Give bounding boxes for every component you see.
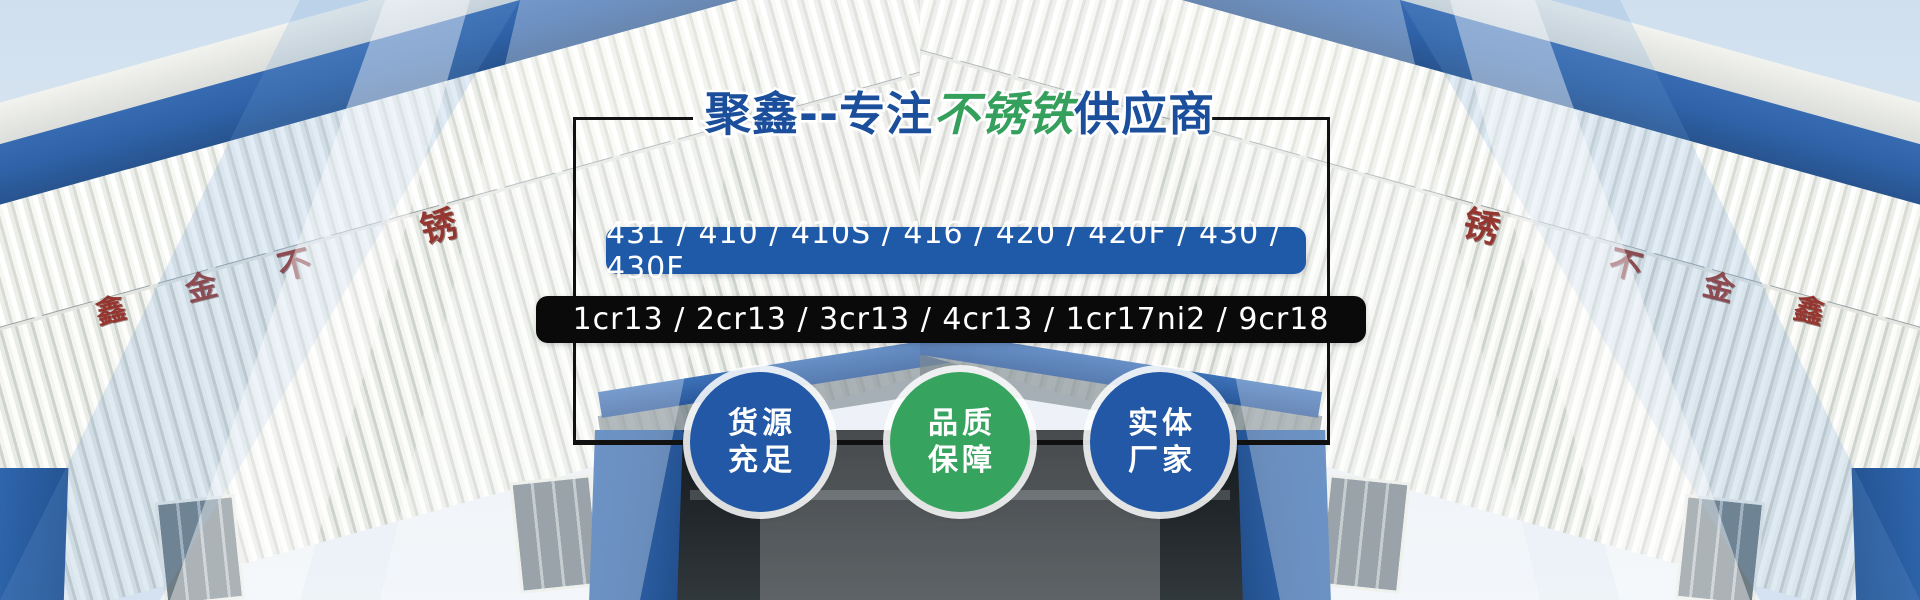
badge-quality-line2: 保障 [924, 442, 996, 480]
badge-quality: 品质 保障 [890, 372, 1030, 512]
headline-brand: 聚鑫 [705, 87, 799, 141]
feature-badges: 货源 充足 品质 保障 实体 厂家 [0, 372, 1920, 512]
badge-supply-line2: 充足 [724, 442, 796, 480]
promo-banner: 鑫 金 不 锈 鑫 金 不 锈 [0, 0, 1920, 600]
badge-quality-line1: 品质 [924, 405, 996, 443]
badge-supply-line1: 货源 [724, 405, 796, 443]
badge-factory: 实体 厂家 [1090, 372, 1230, 512]
grade-bar-primary: 431 / 410 / 410S / 416 / 420 / 420F / 43… [606, 227, 1306, 274]
badge-factory-line1: 实体 [1124, 405, 1196, 443]
headline-highlight: 不锈铁 [933, 87, 1074, 141]
grade-bar-secondary: 1cr13 / 2cr13 / 3cr13 / 4cr13 / 1cr17ni2… [536, 296, 1366, 343]
headline-focus: 专注 [839, 87, 933, 141]
headline: 聚鑫--专注不锈铁供应商 [0, 78, 1920, 144]
headline-supplier: 供应商 [1074, 87, 1215, 141]
headline-dash: -- [799, 87, 839, 141]
badge-factory-line2: 厂家 [1124, 442, 1196, 480]
badge-supply: 货源 充足 [690, 372, 830, 512]
